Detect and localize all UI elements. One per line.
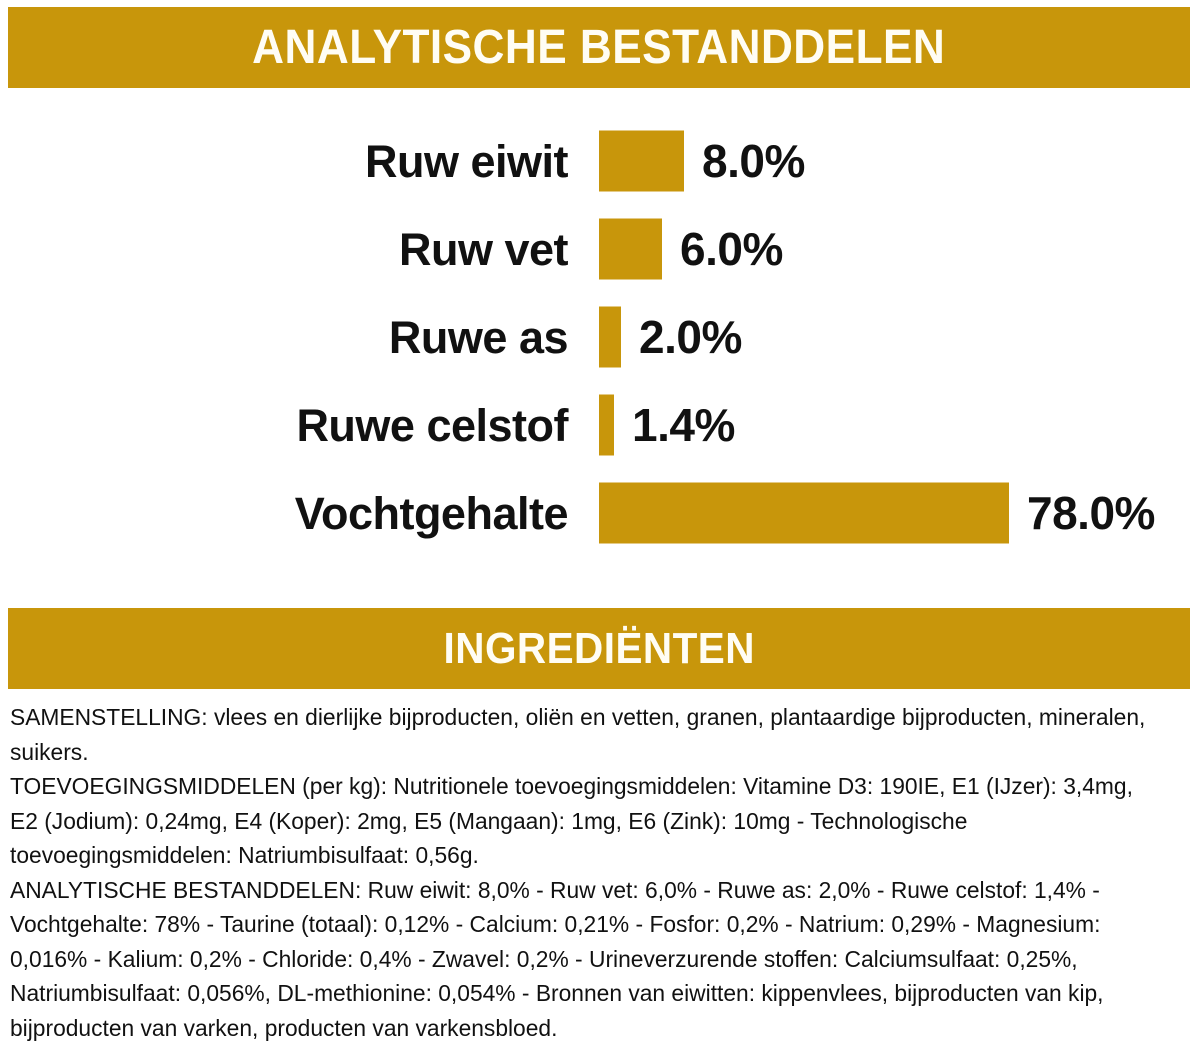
nutrient-label: Ruwe celstof [0, 403, 568, 448]
ingredients-section-header: INGREDIËNTEN [8, 608, 1190, 689]
nutrient-row: Ruw vet6.0% [0, 213, 1200, 285]
analytical-section-header: ANALYTISCHE BESTANDDELEN [8, 7, 1190, 88]
nutrient-label: Vochtgehalte [0, 491, 568, 536]
nutrient-row: Vochtgehalte78.0% [0, 477, 1200, 549]
nutrient-row: Ruwe celstof1.4% [0, 389, 1200, 461]
nutrient-bar [599, 131, 684, 192]
nutrient-value: 8.0% [702, 138, 805, 184]
nutrient-value: 1.4% [632, 402, 735, 448]
ingredients-paragraph: SAMENSTELLING: vlees en dierlijke bijpro… [10, 700, 1158, 769]
nutrient-row: Ruw eiwit8.0% [0, 125, 1200, 197]
nutrient-bar [599, 307, 621, 368]
analytical-bar-chart: Ruw eiwit8.0%Ruw vet6.0%Ruwe as2.0%Ruwe … [0, 118, 1200, 558]
nutrient-label: Ruwe as [0, 315, 568, 360]
nutrient-label: Ruw eiwit [0, 139, 568, 184]
nutrient-value: 6.0% [680, 226, 783, 272]
nutrient-bar [599, 219, 662, 280]
nutrient-bar [599, 483, 1009, 544]
nutrient-bar [599, 395, 614, 456]
nutrient-label: Ruw vet [0, 227, 568, 272]
nutrient-value: 2.0% [639, 314, 742, 360]
ingredients-paragraph: ANALYTISCHE BESTANDDELEN: Ruw eiwit: 8,0… [10, 873, 1158, 1046]
analytical-section-title: ANALYTISCHE BESTANDDELEN [252, 24, 945, 72]
ingredients-body-text: SAMENSTELLING: vlees en dierlijke bijpro… [10, 700, 1158, 1045]
nutrient-value: 78.0% [1027, 490, 1155, 536]
ingredients-paragraph: TOEVOEGINGSMIDDELEN (per kg): Nutritione… [10, 769, 1158, 873]
nutrient-row: Ruwe as2.0% [0, 301, 1200, 373]
ingredients-section-title: INGREDIËNTEN [443, 627, 754, 671]
